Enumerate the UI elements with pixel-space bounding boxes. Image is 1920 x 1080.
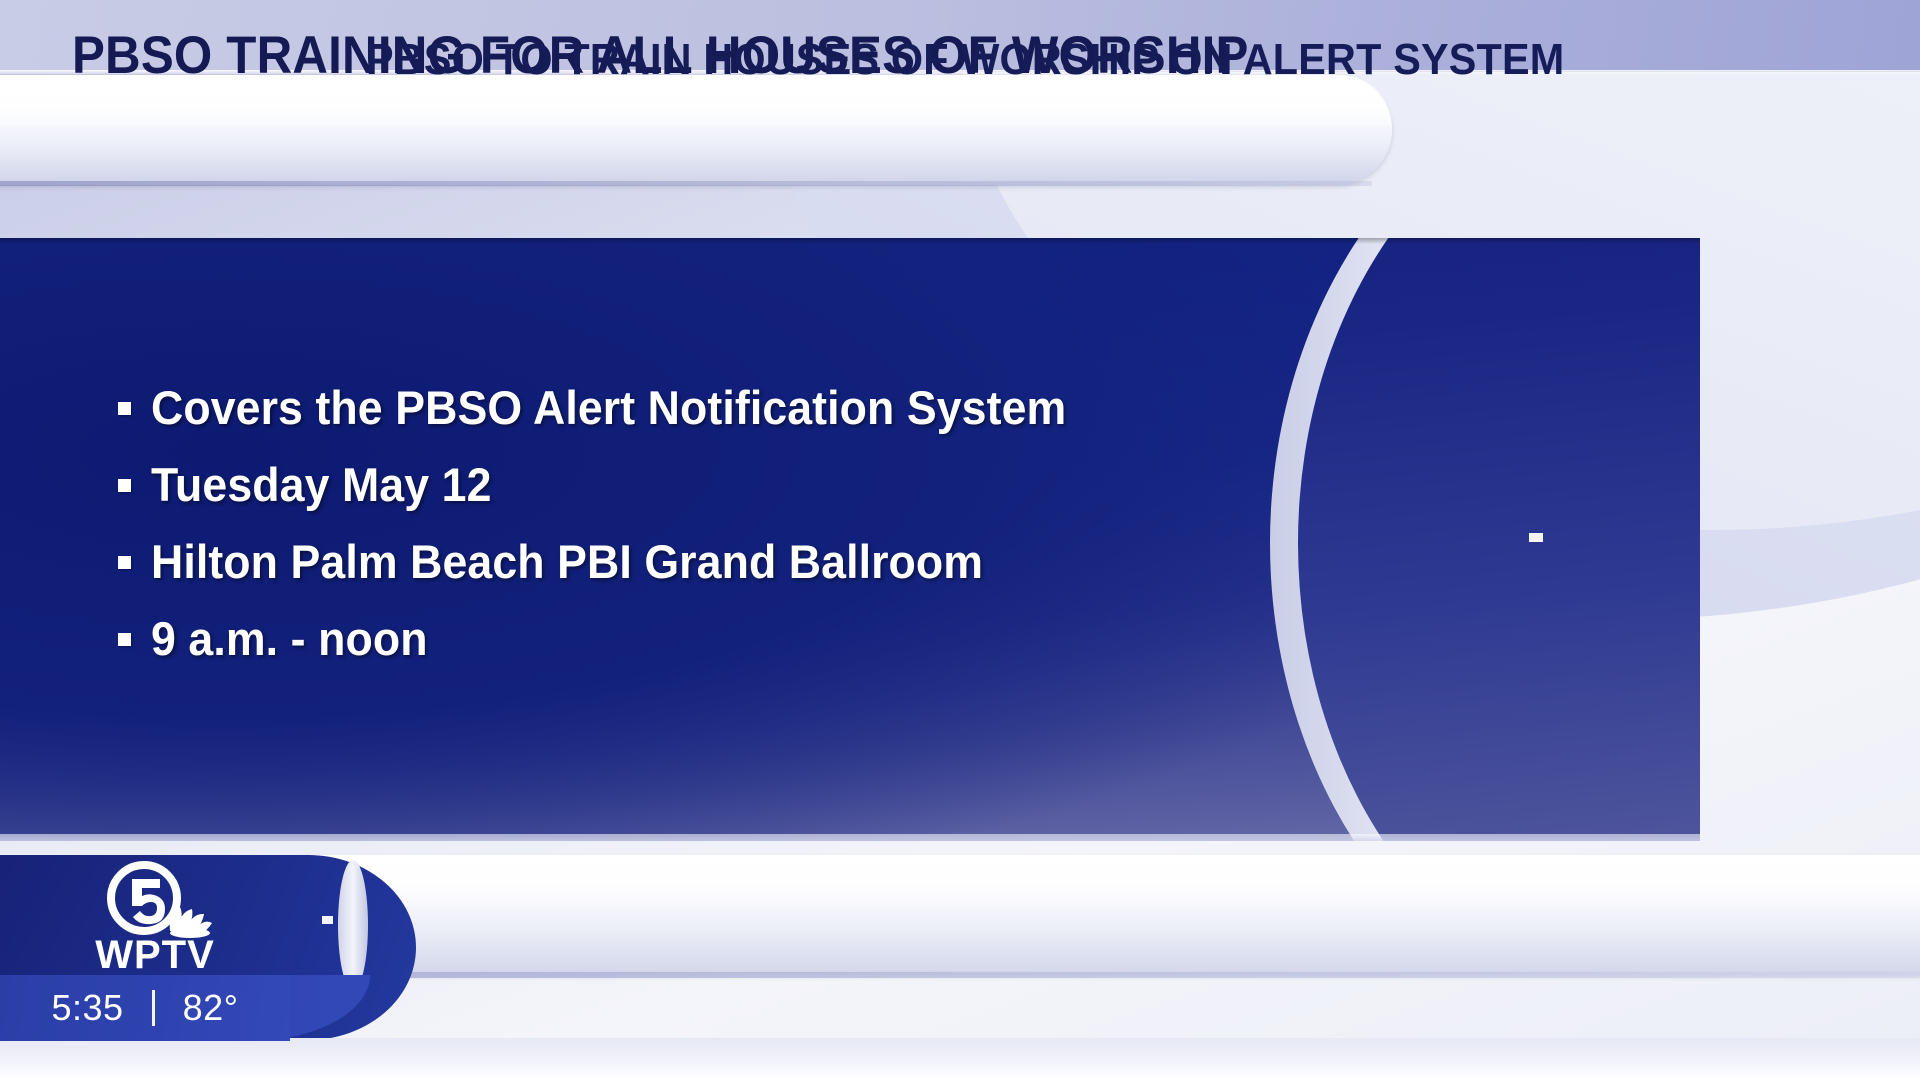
info-divider [152, 990, 155, 1026]
square-bullet-icon [118, 402, 131, 415]
square-bullet-icon [118, 556, 131, 569]
broadcast-graphic: PBSO TRAINING FOR ALL HOUSES OF WORSHIP … [0, 0, 1920, 1080]
logo-silver-sliver [338, 860, 368, 990]
list-item: Covers the PBSO Alert Notification Syste… [118, 380, 1368, 448]
headline-plate-underline [0, 181, 1372, 186]
logo-accent-dot-icon [322, 916, 333, 924]
list-item-label: 9 a.m. - noon [151, 611, 428, 666]
list-item-label: Covers the PBSO Alert Notification Syste… [151, 380, 1066, 435]
list-item-label: Tuesday May 12 [151, 457, 492, 512]
list-item: Tuesday May 12 [118, 457, 1368, 525]
square-bullet-icon [118, 479, 131, 492]
arc-accent-dot-icon [1529, 533, 1543, 542]
list-item: Hilton Palm Beach PBI Grand Ballroom [118, 534, 1368, 602]
temperature-value: 82° [183, 987, 239, 1029]
list-item-label: Hilton Palm Beach PBI Grand Ballroom [151, 534, 983, 589]
lower-third-plate [300, 855, 1920, 975]
list-item: 9 a.m. - noon [118, 611, 1368, 679]
lower-third-underline [300, 972, 1920, 978]
station-logo: WPTV [0, 855, 310, 975]
detail-bullet-list: Covers the PBSO Alert Notification Syste… [118, 380, 1368, 688]
detail-panel-top-shadow [0, 238, 1700, 244]
lower-third-plate-gloss [300, 855, 1920, 908]
time-temp-bar: 5:35 82° [0, 975, 290, 1041]
square-bullet-icon [118, 633, 131, 646]
bottom-fade [0, 1038, 1920, 1080]
detail-panel-bottom-edge [0, 834, 1700, 841]
clock-time: 5:35 [51, 987, 123, 1029]
lower-third-headline: PBSO TO TRAIN HOUSES OF WORSHIP ON ALERT… [366, 0, 1564, 120]
channel-five-peacock-icon [96, 861, 214, 943]
